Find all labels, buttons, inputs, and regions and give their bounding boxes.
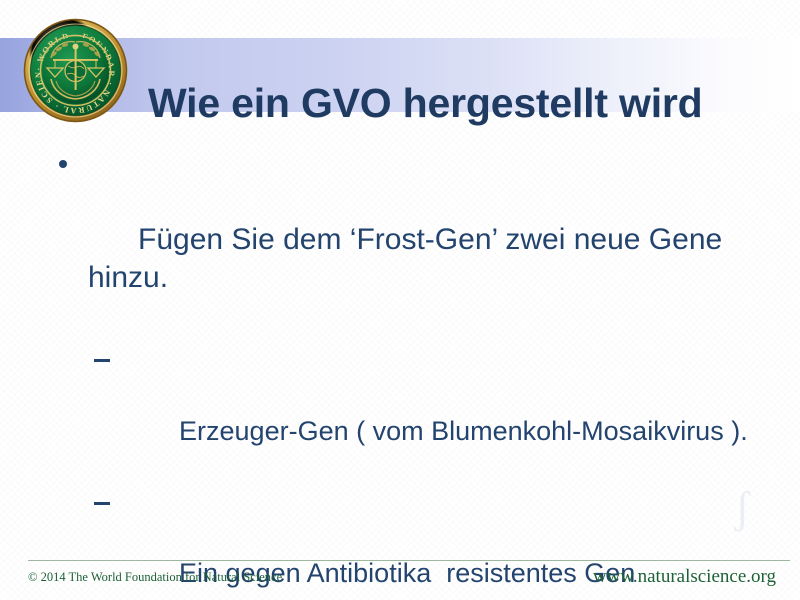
presentation-slide: THE · WORLD · FOUNDATION FOR · NATURAL ·…	[0, 0, 800, 600]
bullet-level2-item: Erzeuger-Gen ( vom Blumenkohl-Mosaikviru…	[42, 343, 772, 483]
slide-body: Fügen Sie dem ‘Frost-Gen’ zwei neue Gene…	[42, 145, 772, 600]
bullet-text: Erzeuger-Gen ( vom Blumenkohl-Mosaikviru…	[179, 416, 748, 446]
bullet-dot-icon	[59, 160, 67, 168]
bullet-sublist: Erzeuger-Gen ( vom Blumenkohl-Mosaikviru…	[42, 343, 772, 600]
organization-logo-icon: THE · WORLD · FOUNDATION FOR · NATURAL ·…	[23, 18, 128, 123]
bullet-dash-icon	[94, 359, 110, 362]
footer-copyright: © 2014 The World Foundation for Natural …	[28, 570, 282, 585]
slide-title: Wie ein GVO hergestellt wird	[148, 68, 788, 138]
footer-website-url[interactable]: www.naturalscience.org	[593, 566, 776, 588]
bullet-text: Fügen Sie dem ‘Frost-Gen’ zwei neue Gene…	[88, 223, 731, 294]
bullet-level1-item: Fügen Sie dem ‘Frost-Gen’ zwei neue Gene…	[42, 145, 772, 335]
bullet-dash-icon	[94, 502, 110, 505]
footer-divider	[28, 560, 790, 561]
